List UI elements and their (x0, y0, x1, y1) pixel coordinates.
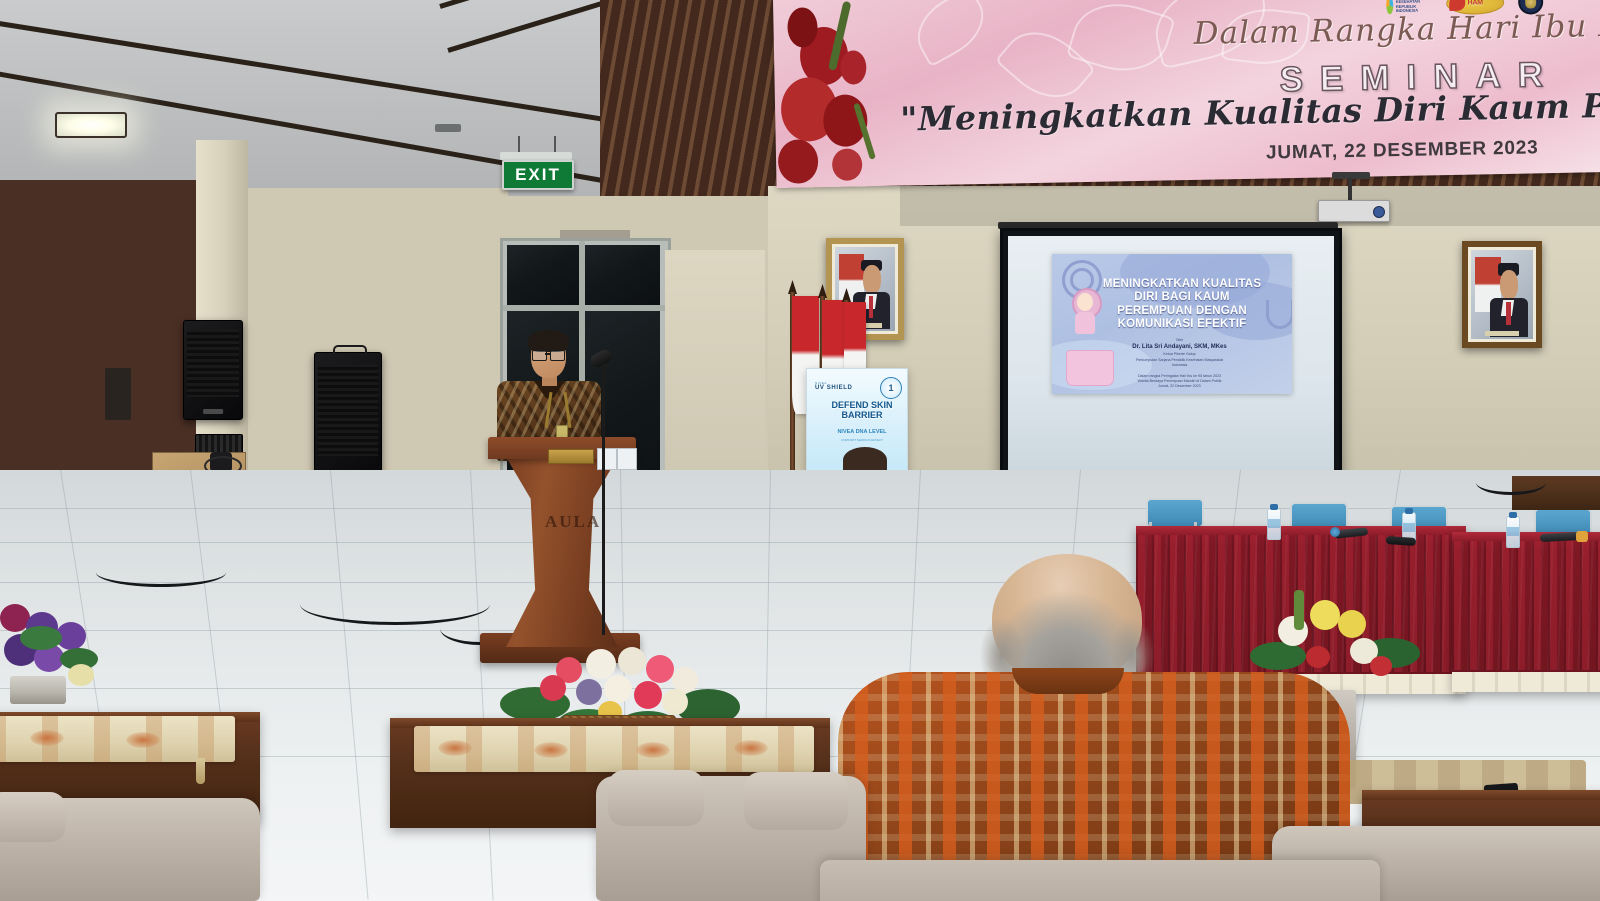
eyeglass-lens-left (532, 350, 547, 361)
tile-grout-h-1 (0, 508, 1600, 509)
rollup-tagline: COMFORT SERIOUS EFFECT (821, 438, 903, 442)
ceiling-projector (1318, 200, 1390, 222)
slide-note-3: Jumat, 22 Desember 2023 (1072, 384, 1287, 389)
speaker-hair (528, 330, 569, 352)
slide-title-line-3: PEREMPUAN DENGAN (1082, 305, 1282, 318)
presentation-slide: MENINGKATKAN KUALITAS DIRI BAGI KAUM PER… (1052, 254, 1292, 394)
tile-grout-v-3 (330, 470, 369, 899)
sofa-left-arm (0, 792, 66, 842)
banner-date: JUMAT, 22 DESEMBER 2023 (1266, 137, 1539, 164)
bottle-label-1 (1268, 519, 1280, 528)
head-table-right-segment (1452, 532, 1600, 692)
wall-cable-right (1476, 470, 1546, 495)
ceiling-light (55, 112, 127, 138)
bouquet-rose-3 (618, 647, 646, 675)
bouquet-rose-7 (576, 679, 602, 705)
runner-motif-3 (636, 742, 670, 758)
door-mullion-horizontal (503, 305, 668, 311)
exit-sign-cap (500, 152, 572, 160)
right-bouquet-yellow-1 (1310, 600, 1340, 630)
slide-title-line-4: KOMUNIKASI EFEKTIF (1082, 318, 1282, 331)
wall-shadow-band (900, 186, 1600, 226)
bottle-cap-3 (1509, 512, 1517, 518)
door-glass-upper-left (507, 245, 579, 305)
right-bouquet-green-spike (1294, 590, 1304, 630)
pa-speaker-tower (314, 352, 382, 486)
upper-wall-dark-left (0, 180, 196, 480)
slide-title: MENINGKATKAN KUALITAS DIRI BAGI KAUM PER… (1082, 278, 1282, 331)
rollup-headline: DEFEND SKIN BARRIER (821, 401, 903, 420)
bottle-cap-2 (1405, 508, 1413, 514)
rollup-badge: 1 (880, 377, 902, 399)
head-table-surface-a (1136, 526, 1466, 535)
right-bouquet-red-2 (1370, 656, 1392, 676)
head-table-skirt-b (1452, 670, 1600, 692)
tile-grout-v-4 (470, 470, 494, 900)
left-bouquet-leaf-1 (20, 626, 62, 650)
rollup-brand: NIVEA UV SHIELD (815, 381, 852, 391)
wall-speaker-logo (203, 409, 223, 414)
vice-president-portrait-image (1471, 250, 1533, 339)
runner-motif-4 (734, 740, 768, 756)
table-microphone-1-head (1330, 527, 1340, 537)
exit-sign: EXIT (502, 160, 574, 190)
left-table-runner (0, 716, 235, 762)
table-microphone-3-tip (1576, 531, 1588, 542)
bottle-cap-1 (1270, 504, 1278, 510)
left-runner-motif-1 (30, 730, 64, 746)
right-bouquet-yellow-2 (1338, 610, 1366, 638)
bouquet-rose-2 (586, 649, 616, 679)
right-table-surface (1362, 790, 1600, 800)
germas-logo-text: HAM (1468, 0, 1483, 7)
wall-speaker (183, 320, 243, 420)
left-bouquet (0, 604, 120, 704)
sofa-center-arm-right (744, 772, 848, 830)
speaker-eyeglasses (532, 350, 565, 359)
ceiling-vent (435, 124, 461, 132)
slide-byline: Oleh Dr. Lita Sri Andayani, SKM, MKes Ke… (1072, 338, 1287, 390)
seated-attendee-collar (1012, 668, 1124, 694)
screen-surface: MENINGKATKAN KUALITAS DIRI BAGI KAUM PER… (1008, 236, 1334, 471)
left-runner-motif-2 (126, 732, 160, 748)
eyeglass-lens-right (550, 350, 565, 361)
center-table-runner (414, 726, 814, 772)
event-banner: KEMENTERIAN KESEHATAN REPUBLIK INDONESIA… (773, 0, 1600, 188)
photo-canvas: KEMENTERIAN KESEHATAN REPUBLIK INDONESIA… (0, 0, 1600, 901)
bouquet-rose-9 (634, 681, 662, 709)
projector-lens (1373, 206, 1385, 218)
microphone-stand-pole (602, 365, 605, 635)
door-glass-upper-right (585, 245, 660, 305)
pa-tower-handle (333, 345, 367, 356)
exit-sign-label: EXIT (515, 165, 561, 185)
bouquet-rose-4 (646, 655, 674, 683)
runner-motif-2 (534, 742, 568, 758)
projection-screen: MENINGKATKAN KUALITAS DIRI BAGI KAUM PER… (1000, 228, 1342, 479)
bouquet-rose-10 (662, 689, 688, 715)
rollup-subhead: NIVEA DNA LEVEL (821, 429, 903, 435)
portrait-face-2 (1500, 270, 1519, 300)
water-bottle-1 (1267, 508, 1281, 540)
floor-cable-2 (96, 558, 226, 587)
podium-nameplate (548, 449, 594, 464)
wall-speaker-grille (187, 329, 239, 398)
pa-tower-grille (318, 364, 377, 456)
eyeglass-bridge (545, 353, 550, 355)
right-bouquet-leaf-1 (1250, 642, 1306, 670)
head-table-pleats-b (1452, 541, 1600, 670)
portrait-nameplate-2 (1485, 331, 1520, 336)
bouquet-rose-8 (604, 675, 632, 703)
slide-title-line-2: DIRI BAGI KAUM (1082, 291, 1282, 304)
banner-theme: "Meningkatkan Kualitas Diri Kaum Perempu… (900, 79, 1600, 138)
left-bouquet-rose-6 (68, 664, 94, 686)
slide-title-line-1: MENINGKATKAN KUALITAS (1082, 278, 1282, 291)
runner-motif-1 (438, 740, 472, 756)
slide-presenter-name: Dr. Lita Sri Andayani, SKM, MKes (1072, 343, 1287, 352)
bottle-label-2 (1403, 523, 1415, 532)
podium-front-label: AULA (545, 512, 601, 532)
sofa-foreground-seat[interactable] (820, 860, 1380, 901)
bottle-label-3 (1507, 527, 1519, 536)
left-bouquet-vase (10, 676, 66, 704)
sofa-center-arm-left (608, 770, 704, 826)
portrait-tie-2 (1506, 302, 1511, 325)
left-runner-tassel (196, 758, 205, 784)
rollup-brand-name: UV SHIELD (815, 385, 852, 391)
vice-president-portrait (1462, 241, 1542, 348)
bouquet-rose-6 (540, 675, 566, 701)
door-header-sign (560, 230, 630, 238)
right-bouquet-red-1 (1306, 646, 1330, 668)
water-bottle-3 (1506, 516, 1520, 548)
podium-paper-1 (597, 448, 617, 470)
podium-paper-2 (617, 448, 637, 470)
wall-panel-dark (105, 368, 131, 420)
